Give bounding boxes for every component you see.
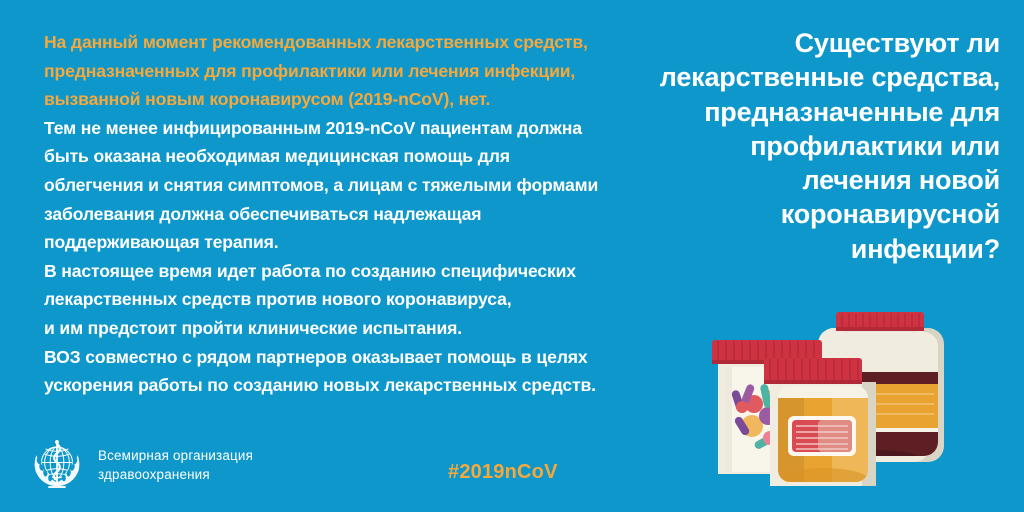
who-wordmark: Всемирная организация здравоохранения xyxy=(98,446,253,484)
body-line: ВОЗ совместно с рядом партнеров оказывае… xyxy=(44,343,689,372)
syrup-bottle-center xyxy=(764,358,876,492)
campaign-hashtag: #2019nCoV xyxy=(448,461,558,484)
paragraph-3: ВОЗ совместно с рядом партнеров оказывае… xyxy=(44,343,689,400)
headline-line: лекарственные средства, xyxy=(530,60,1000,94)
who-name-line-2: здравоохранения xyxy=(98,465,253,484)
who-emblem-icon xyxy=(26,434,88,496)
paragraph-2: В настоящее время идет работа по создани… xyxy=(44,257,689,343)
medicine-bottles-illustration xyxy=(684,312,1024,512)
body-line: и им предстоит пройти клинические испыта… xyxy=(44,314,689,343)
infographic-canvas: На данный момент рекомендованных лекарст… xyxy=(0,0,1024,512)
body-line: ускорения работы по созданию новых лекар… xyxy=(44,371,689,400)
who-name-line-1: Всемирная организация xyxy=(98,446,253,465)
headline-line: коронавирусной xyxy=(530,197,1000,231)
headline-line: Существуют ли xyxy=(530,26,1000,60)
headline-line: лечения новой xyxy=(530,163,1000,197)
headline-line: предназначенные для xyxy=(530,95,1000,129)
headline-line: профилактики или xyxy=(530,129,1000,163)
headline-line: инфекции? xyxy=(530,232,1000,266)
headline-question: Существуют ли лекарственные средства, пр… xyxy=(530,26,1000,266)
who-logo: Всемирная организация здравоохранения xyxy=(26,434,253,496)
bottles-svg xyxy=(684,312,1024,512)
body-line: лекарственных средств против нового коро… xyxy=(44,285,689,314)
